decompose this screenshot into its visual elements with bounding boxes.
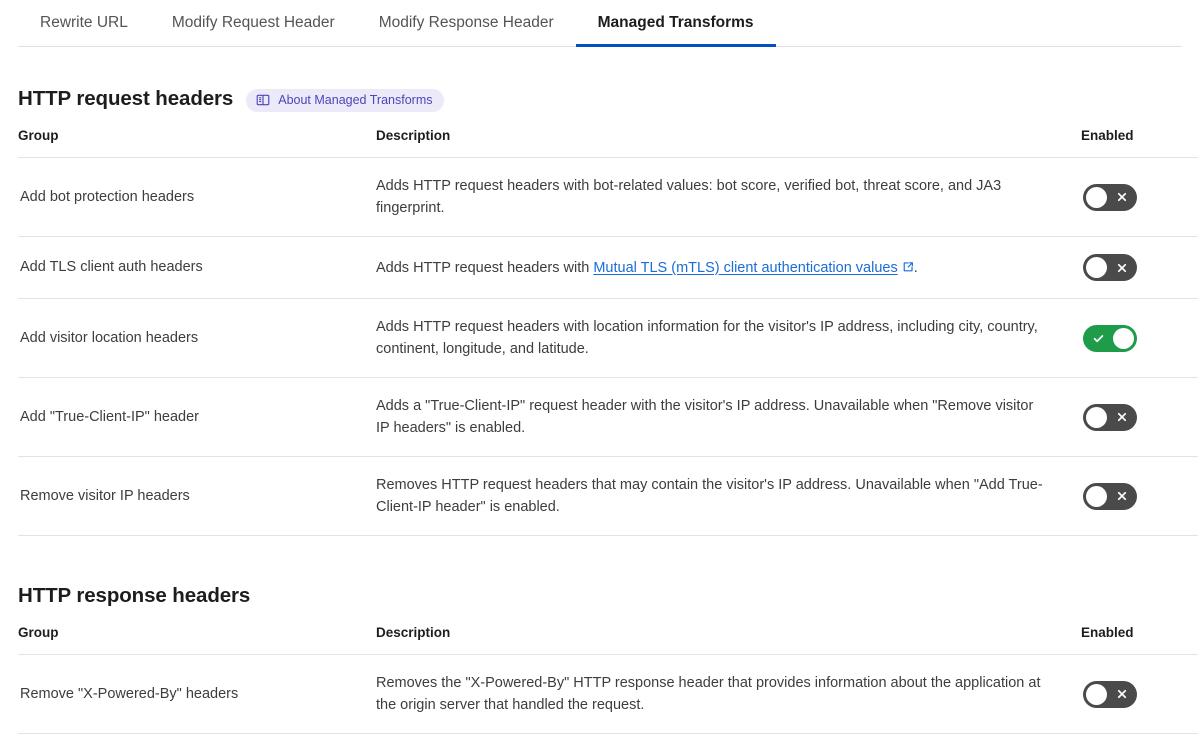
toggle-remove-x-powered-by-headers[interactable] — [1083, 681, 1137, 708]
row-group-label: Add bot protection headers — [18, 158, 376, 237]
row-enabled-cell — [1081, 299, 1198, 378]
toggle-add-bot-protection-headers[interactable] — [1083, 184, 1137, 211]
table-row: Add security headers Adds several securi… — [18, 734, 1198, 742]
row-description: Adds HTTP request headers with Mutual TL… — [376, 237, 1081, 299]
row-enabled-cell — [1081, 734, 1198, 742]
book-icon — [256, 93, 270, 107]
row-group-label: Add visitor location headers — [18, 299, 376, 378]
toggle-add-tls-client-auth-headers[interactable] — [1083, 254, 1137, 281]
column-header-enabled: Enabled — [1081, 624, 1198, 655]
table-row: Add visitor location headers Adds HTTP r… — [18, 299, 1198, 378]
managed-transforms-page: Rewrite URL Modify Request Header Modify… — [0, 0, 1200, 742]
tab-bar: Rewrite URL Modify Request Header Modify… — [18, 0, 1182, 47]
toggle-add-visitor-location-headers[interactable] — [1083, 325, 1137, 352]
table-row: Add "True-Client-IP" header Adds a "True… — [18, 378, 1198, 457]
row-description: Adds HTTP request headers with bot-relat… — [376, 158, 1081, 237]
column-header-group: Group — [18, 127, 376, 158]
toggle-knob — [1086, 486, 1107, 507]
close-icon — [1108, 681, 1135, 708]
table-row: Add TLS client auth headers Adds HTTP re… — [18, 237, 1198, 299]
request-headers-table: Group Description Enabled Add bot protec… — [18, 127, 1198, 536]
toggle-remove-visitor-ip-headers[interactable] — [1083, 483, 1137, 510]
tab-label: Modify Response Header — [379, 14, 554, 31]
table-header-row: Group Description Enabled — [18, 127, 1198, 158]
toggle-knob — [1086, 187, 1107, 208]
tab-label: Managed Transforms — [598, 14, 754, 31]
description-text-after: . — [914, 260, 918, 276]
column-header-description: Description — [376, 127, 1081, 158]
row-enabled-cell — [1081, 457, 1198, 536]
request-section-header: HTTP request headers About Managed Trans… — [18, 86, 1182, 112]
tab-label: Modify Request Header — [172, 14, 335, 31]
check-icon — [1085, 325, 1112, 352]
row-description: Adds several security-related HTTP respo… — [376, 734, 1081, 742]
response-section-header: HTTP response headers — [18, 583, 1182, 609]
table-row: Add bot protection headers Adds HTTP req… — [18, 158, 1198, 237]
tab-rewrite-url[interactable]: Rewrite URL — [18, 0, 150, 47]
row-group-label: Remove "X-Powered-By" headers — [18, 655, 376, 734]
toggle-knob — [1113, 328, 1134, 349]
row-enabled-cell — [1081, 655, 1198, 734]
toggle-knob — [1086, 684, 1107, 705]
column-header-group: Group — [18, 624, 376, 655]
link-label: Mutual TLS (mTLS) client authentication … — [593, 260, 897, 276]
table-row: Remove "X-Powered-By" headers Removes th… — [18, 655, 1198, 734]
tab-modify-response-header[interactable]: Modify Response Header — [357, 0, 576, 47]
tab-modify-request-header[interactable]: Modify Request Header — [150, 0, 357, 47]
response-headers-table: Group Description Enabled Remove "X-Powe… — [18, 624, 1198, 742]
tab-label: Rewrite URL — [40, 14, 128, 31]
row-description: Adds HTTP request headers with location … — [376, 299, 1081, 378]
response-section-title: HTTP response headers — [18, 583, 250, 609]
about-managed-transforms-button[interactable]: About Managed Transforms — [246, 89, 444, 112]
row-group-label: Add security headers — [18, 734, 376, 742]
about-pill-label: About Managed Transforms — [278, 93, 432, 108]
column-header-enabled: Enabled — [1081, 127, 1198, 158]
http-response-headers-section: HTTP response headers Group Description … — [18, 583, 1182, 742]
row-enabled-cell — [1081, 237, 1198, 299]
http-request-headers-section: HTTP request headers About Managed Trans… — [18, 86, 1182, 536]
close-icon — [1108, 184, 1135, 211]
table-row: Remove visitor IP headers Removes HTTP r… — [18, 457, 1198, 536]
row-group-label: Remove visitor IP headers — [18, 457, 376, 536]
row-group-label: Add TLS client auth headers — [18, 237, 376, 299]
close-icon — [1108, 483, 1135, 510]
external-link-icon[interactable] — [902, 258, 914, 270]
toggle-add-true-client-ip-header[interactable] — [1083, 404, 1137, 431]
close-icon — [1108, 254, 1135, 281]
row-description: Adds a "True-Client-IP" request header w… — [376, 378, 1081, 457]
table-header-row: Group Description Enabled — [18, 624, 1198, 655]
row-enabled-cell — [1081, 158, 1198, 237]
column-header-description: Description — [376, 624, 1081, 655]
row-group-label: Add "True-Client-IP" header — [18, 378, 376, 457]
page-title: HTTP request headers — [18, 86, 233, 112]
toggle-knob — [1086, 407, 1107, 428]
row-description: Removes the "X-Powered-By" HTTP response… — [376, 655, 1081, 734]
description-text-before: Adds HTTP request headers with — [376, 260, 593, 276]
toggle-knob — [1086, 257, 1107, 278]
row-enabled-cell — [1081, 378, 1198, 457]
row-description: Removes HTTP request headers that may co… — [376, 457, 1081, 536]
tab-managed-transforms[interactable]: Managed Transforms — [576, 0, 776, 47]
mtls-documentation-link[interactable]: Mutual TLS (mTLS) client authentication … — [593, 260, 897, 276]
close-icon — [1108, 404, 1135, 431]
